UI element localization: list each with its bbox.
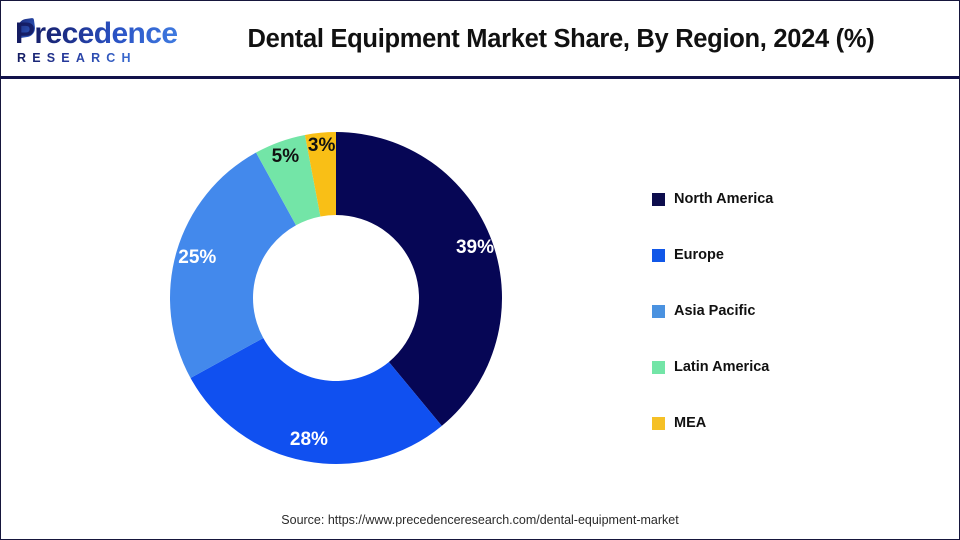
slice-value-label: 39%	[456, 237, 494, 259]
legend-swatch-icon	[652, 361, 665, 374]
legend-item-label: North America	[674, 191, 773, 207]
legend-swatch-icon	[652, 417, 665, 430]
legend-item[interactable]: Latin America	[652, 339, 922, 395]
legend-item[interactable]: Europe	[652, 227, 922, 283]
legend-item[interactable]: North America	[652, 171, 922, 227]
precedence-research-logo: Precedence RESEARCH	[15, 18, 175, 66]
legend-item[interactable]: Asia Pacific	[652, 283, 922, 339]
slice-value-label: 5%	[272, 146, 299, 168]
source-caption: Source: https://www.precedenceresearch.c…	[1, 513, 959, 527]
slice-value-label: 3%	[308, 135, 335, 157]
legend-swatch-icon	[652, 193, 665, 206]
chart-page: Precedence RESEARCH Dental Equipment Mar…	[0, 0, 960, 540]
logo-wordmark: Precedence	[15, 18, 177, 50]
legend-swatch-icon	[652, 305, 665, 318]
logo-subtitle: RESEARCH	[17, 51, 137, 65]
slice-value-label: 25%	[178, 247, 216, 269]
legend-swatch-icon	[652, 249, 665, 262]
legend-item-label: MEA	[674, 415, 706, 431]
chart-legend: North AmericaEuropeAsia PacificLatin Ame…	[652, 171, 922, 451]
donut-slice-group	[170, 132, 502, 464]
header-bar: Precedence RESEARCH Dental Equipment Mar…	[1, 1, 959, 79]
legend-item-label: Latin America	[674, 359, 769, 375]
donut-chart-svg	[170, 132, 502, 464]
slice-value-label: 28%	[290, 429, 328, 451]
legend-item-label: Asia Pacific	[674, 303, 755, 319]
legend-item[interactable]: MEA	[652, 395, 922, 451]
donut-chart: 39%28%25%5%3%	[170, 132, 502, 464]
legend-item-label: Europe	[674, 247, 724, 263]
page-title: Dental Equipment Market Share, By Region…	[191, 25, 931, 54]
